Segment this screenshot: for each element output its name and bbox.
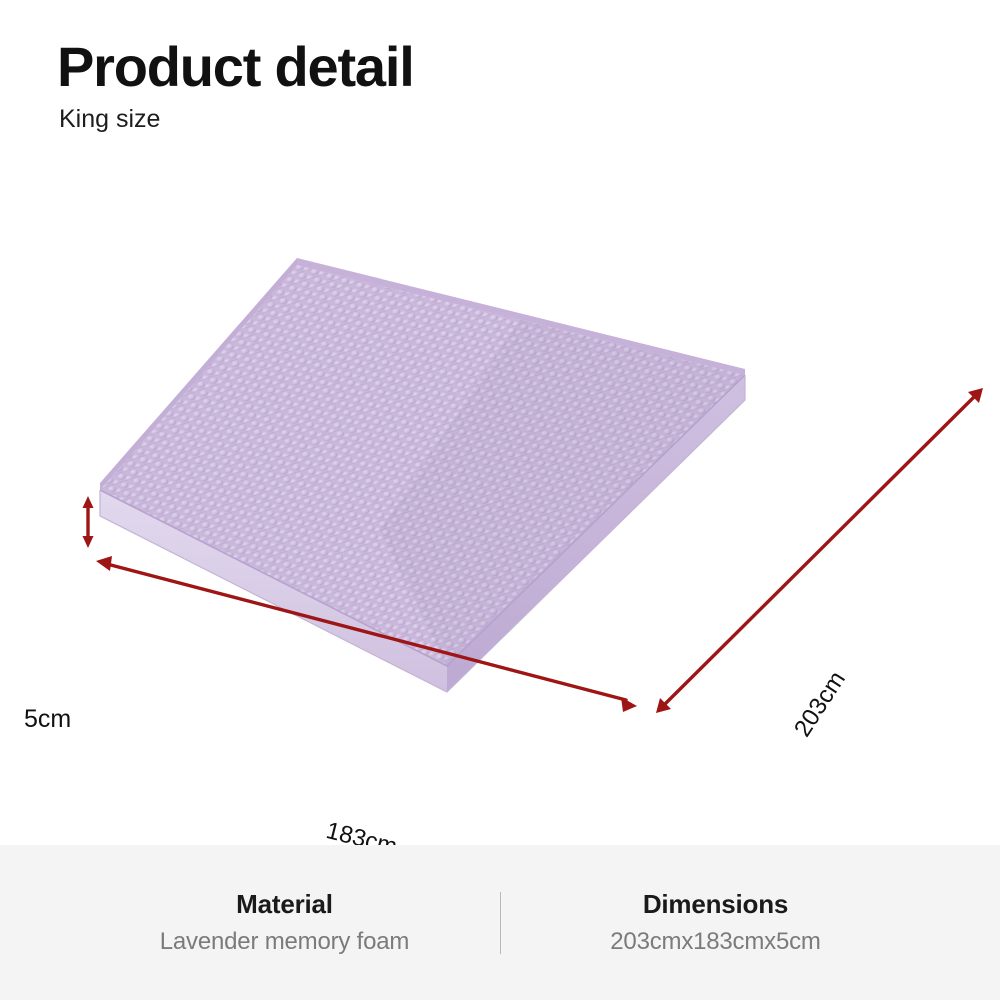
spec-heading-material: Material <box>70 888 500 921</box>
foam-slab-illustration <box>0 200 1000 800</box>
dimension-height-5cm <box>83 496 94 548</box>
spec-column-material: Material Lavender memory foam <box>70 888 500 958</box>
dimension-label-height: 5cm <box>24 705 71 734</box>
spec-value-dimensions: 203cmx183cmx5cm <box>501 927 931 957</box>
spec-value-material: Lavender memory foam <box>70 927 500 957</box>
page-subtitle: King size <box>59 106 757 134</box>
spec-panel: Material Lavender memory foam Dimensions… <box>0 845 1000 1000</box>
product-illustration: 5cm 183cm 203cm <box>0 200 1000 800</box>
page-header: Product detail King size <box>57 38 757 134</box>
page-title: Product detail <box>57 38 757 95</box>
slab-bump-texture <box>60 240 800 710</box>
foam-slab <box>60 240 800 710</box>
product-detail-page: Product detail King size <box>0 0 1000 1000</box>
spec-heading-dimensions: Dimensions <box>501 888 931 921</box>
spec-column-dimensions: Dimensions 203cmx183cmx5cm <box>501 888 931 958</box>
